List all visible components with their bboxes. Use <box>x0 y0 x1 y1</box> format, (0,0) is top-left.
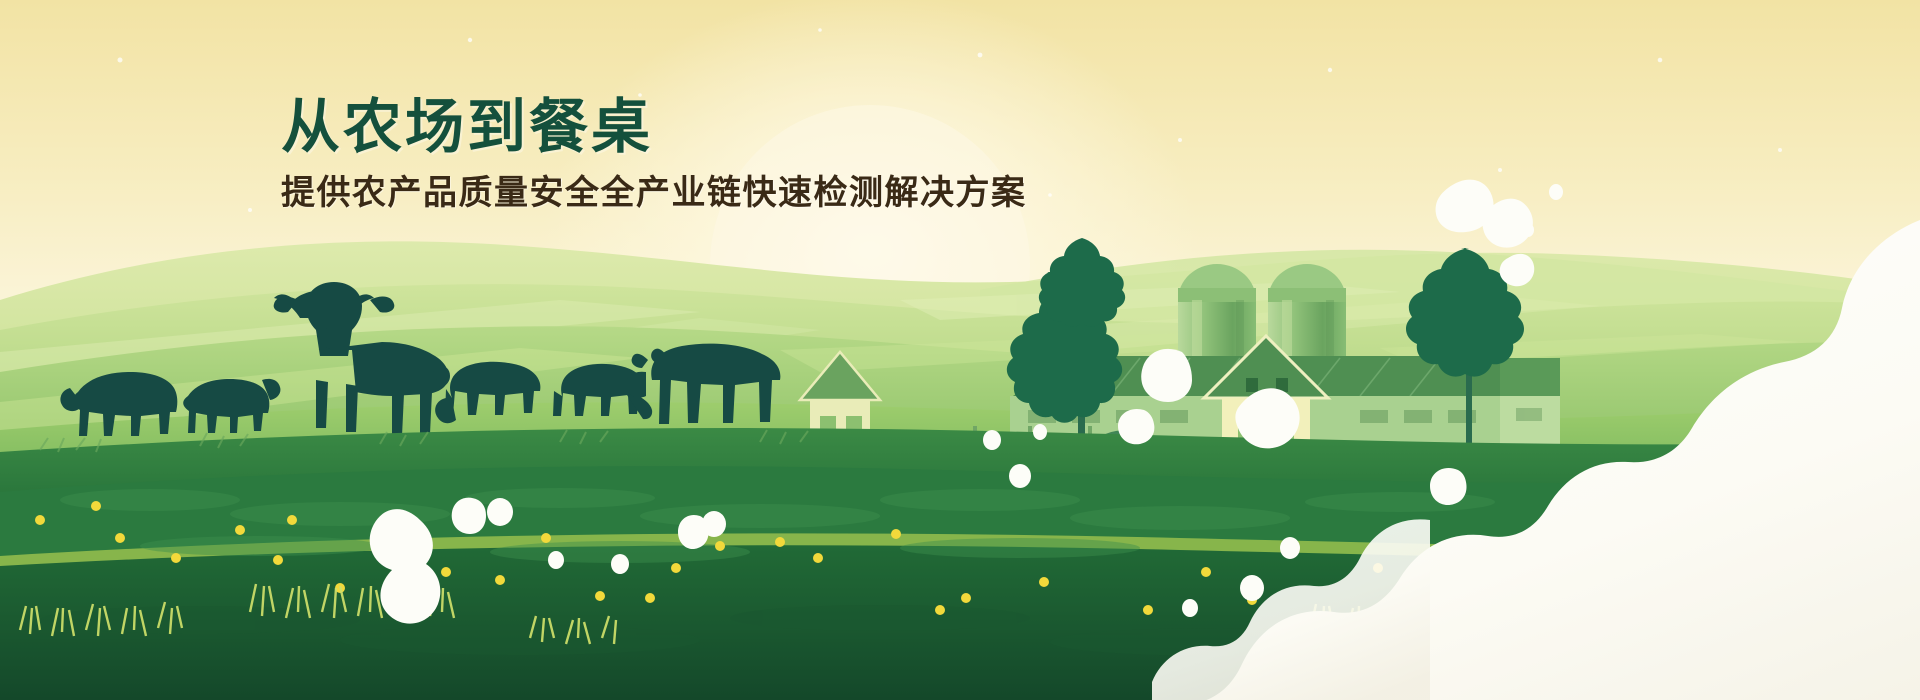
farm-to-table-hero-banner: 从农场到餐桌 提供农产品质量安全全产业链快速检测解决方案 <box>0 0 1920 700</box>
banner-text-block: 从农场到餐桌 提供农产品质量安全全产业链快速检测解决方案 <box>281 96 1027 213</box>
page-title: 从农场到餐桌 <box>281 96 1027 159</box>
page-subtitle: 提供农产品质量安全全产业链快速检测解决方案 <box>281 173 1027 214</box>
